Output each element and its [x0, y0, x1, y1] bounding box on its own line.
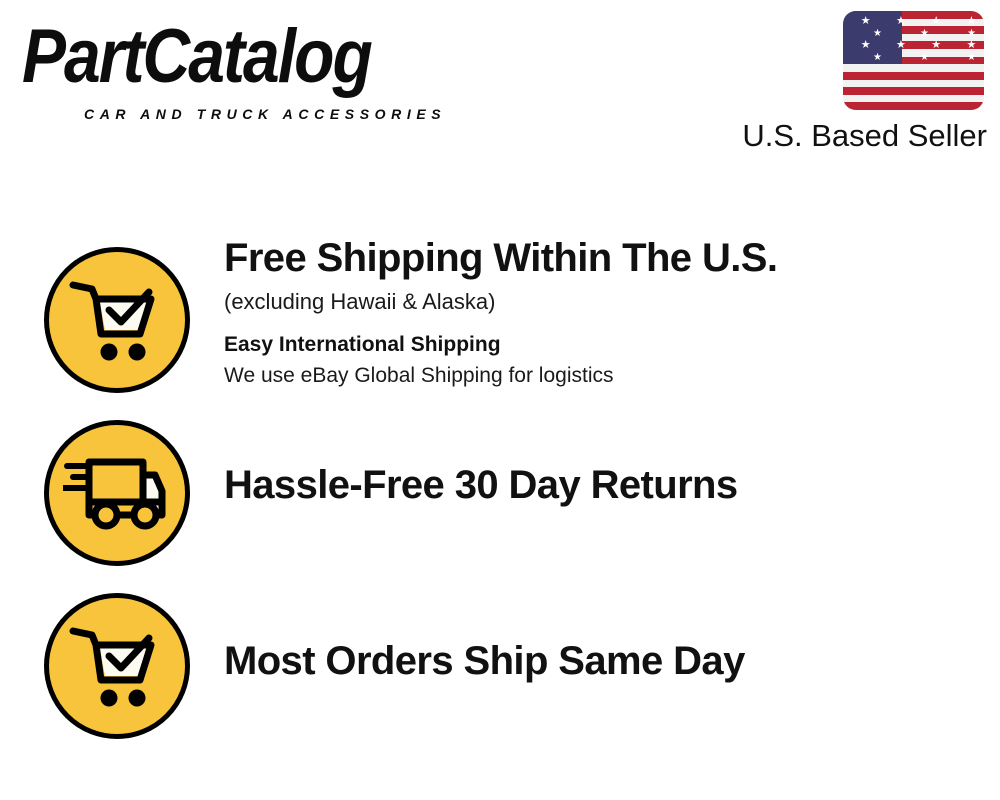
us-flag-icon: ★ ★ ★ ★ ★ ★ ★ ★ ★ ★ ★ ★ ★ ★ ★: [843, 11, 984, 110]
delivery-truck-icon: [44, 420, 190, 566]
flag-stripe: [843, 72, 984, 80]
flag-star: ★: [873, 28, 882, 39]
promo-banner: { "brand": { "wordmark": "PartCatalog", …: [0, 0, 1000, 800]
flag-star: ★: [896, 40, 906, 51]
us-based-seller-label: U.S. Based Seller: [722, 118, 987, 154]
feature-subtitle: We use eBay Global Shipping for logistic…: [224, 361, 1000, 391]
flag-star: ★: [967, 28, 976, 39]
flag-star-row: ★ ★ ★ ★: [843, 39, 984, 51]
feature-text: Hassle-Free 30 Day Returns: [190, 404, 1000, 508]
flag-star: ★: [966, 16, 976, 27]
feature-note: (excluding Hawaii & Alaska): [224, 287, 1000, 317]
shopping-cart-check-icon: [44, 247, 190, 393]
shopping-cart-check-icon: [44, 593, 190, 739]
flag-star: ★: [861, 16, 871, 27]
feature-text: Most Orders Ship Same Day: [190, 578, 1000, 684]
flag-stripe: [843, 80, 984, 88]
feature-title: Most Orders Ship Same Day: [224, 638, 1000, 684]
feature-text: Free Shipping Within The U.S. (excluding…: [190, 232, 1000, 391]
feature-title: Free Shipping Within The U.S.: [224, 235, 1000, 281]
flag-stripe: [843, 87, 984, 95]
flag-star: ★: [861, 40, 871, 51]
flag-star-row: ★ ★ ★: [843, 27, 984, 39]
flag-star-row: ★ ★ ★ ★: [843, 15, 984, 27]
brand-tagline: CAR AND TRUCK ACCESSORIES: [84, 106, 446, 122]
flag-star: ★: [931, 16, 941, 27]
flag-star: ★: [931, 40, 941, 51]
flag-stripe: [843, 102, 984, 110]
flag-stripe: [843, 95, 984, 103]
flag-star: ★: [966, 40, 976, 51]
brand-wordmark: PartCatalog: [22, 16, 526, 97]
feature-title: Hassle-Free 30 Day Returns: [224, 462, 1000, 508]
flag-star-row: ★: [843, 52, 984, 64]
flag-star: ★: [896, 16, 906, 27]
brand-logo: PartCatalog CAR AND TRUCK ACCESSORIES: [22, 16, 542, 126]
feature-subtitle-strong: Easy International Shipping: [224, 331, 1000, 359]
feature-row: Free Shipping Within The U.S. (excluding…: [0, 232, 1000, 402]
feature-row: Most Orders Ship Same Day: [0, 578, 1000, 753]
flag-stripe: [843, 64, 984, 72]
us-based-seller-badge: ★ ★ ★ ★ ★ ★ ★ ★ ★ ★ ★ ★ ★ ★ ★: [843, 11, 984, 110]
flag-star: ★: [920, 28, 929, 39]
feature-row: Hassle-Free 30 Day Returns: [0, 404, 1000, 578]
